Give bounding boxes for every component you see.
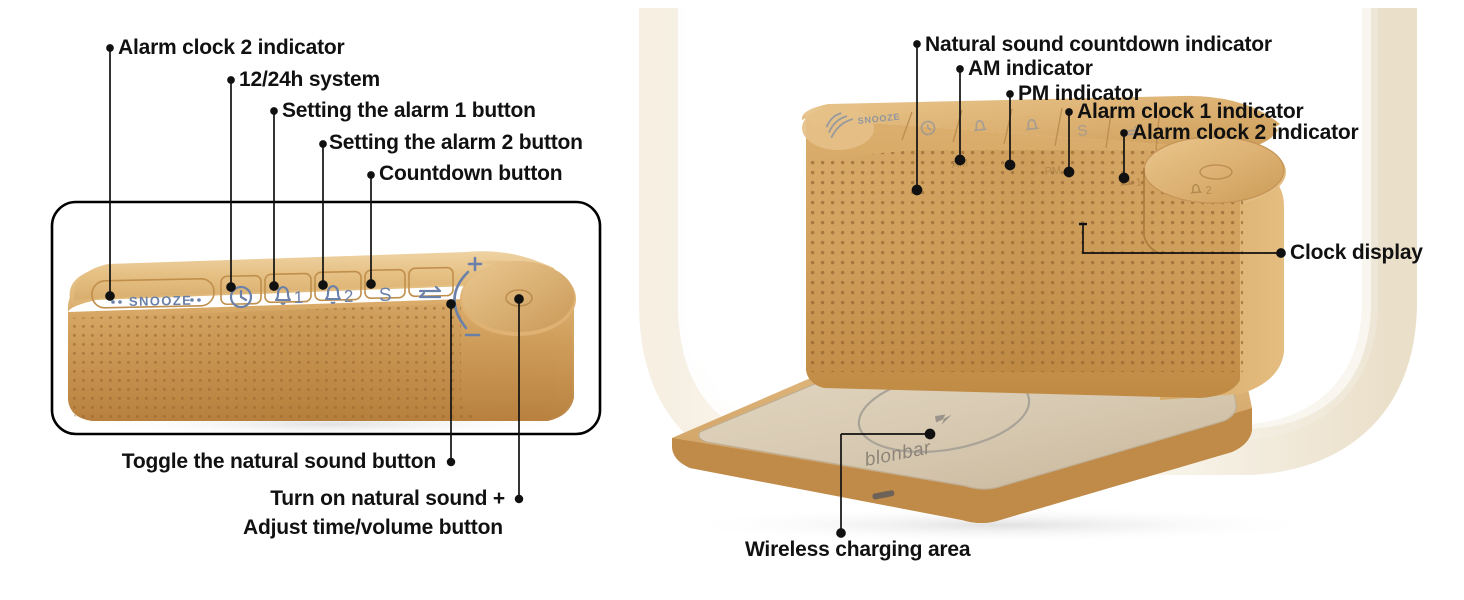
brand-logo-text: blonbar [863, 437, 933, 470]
svg-text:1: 1 [294, 288, 304, 307]
leader-setting-alarm-2-button [319, 141, 327, 289]
label-am-indicator: AM indicator [968, 57, 1093, 81]
leader-alarm-clock-2-indicator-left [106, 45, 114, 300]
svg-text:S: S [1077, 122, 1089, 140]
leader-12-24h-system [227, 77, 235, 291]
label-alarm-clock-2-indicator-right: Alarm clock 2 indicator [1132, 121, 1358, 145]
leader-natural-sound-countdown-indicator [913, 41, 922, 195]
label-adjust-time-volume-button: Adjust time/volume button [243, 516, 503, 540]
wireless-charge-ring [853, 361, 1035, 463]
svg-text:2: 2 [344, 287, 354, 306]
svg-text:AM: AM [951, 158, 968, 171]
leader-wireless-charging-area [837, 430, 935, 538]
wooden-base-tray: blonbar [672, 342, 1252, 523]
leader-clock-display [1079, 224, 1285, 257]
leader-alarm-clock-1-indicator-right [1065, 109, 1074, 177]
label-natural-sound-countdown-indicator: Natural sound countdown indicator [925, 33, 1272, 57]
detail-view-outline [52, 202, 600, 434]
svg-text:SNOOZE: SNOOZE [857, 112, 901, 126]
leader-countdown-button [367, 172, 375, 288]
leader-toggle-natural-sound-button [447, 300, 455, 465]
leader-am-indicator [956, 66, 965, 165]
label-toggle-natural-sound-button: Toggle the natural sound button [106, 450, 436, 474]
svg-text:PM: PM [1044, 165, 1061, 178]
svg-text:S: S [379, 285, 392, 306]
label-setting-alarm-2-button: Setting the alarm 2 button [329, 131, 583, 155]
lightning-bolt-icon [935, 414, 953, 426]
label-turn-on-natural-sound-line1: Turn on natural sound + [200, 487, 505, 511]
leader-alarm-clock-2-indicator-right [1120, 130, 1129, 183]
knob-plus-minus-arc [454, 272, 468, 328]
label-wireless-charging-area: Wireless charging area [745, 538, 970, 562]
label-countdown-button: Countdown button [379, 162, 562, 186]
leader-pm-indicator [1006, 91, 1015, 170]
label-setting-alarm-1-button: Setting the alarm 1 button [282, 99, 536, 123]
label-alarm-clock-1-indicator-right: Alarm clock 1 indicator [1077, 100, 1303, 124]
diagram-canvas: SNOOZE 1 2 S [0, 0, 1464, 600]
snooze-button-shape [92, 279, 214, 309]
leader-setting-alarm-1-button [270, 108, 278, 290]
svg-text:SNOOZE: SNOOZE [129, 293, 193, 309]
left-device-render: SNOOZE 1 2 S [68, 251, 580, 438]
usb-port [872, 490, 895, 500]
label-12-24h-system: 12/24h system [239, 68, 380, 92]
key-glyphs [111, 286, 440, 307]
svg-text:2: 2 [1205, 185, 1212, 197]
label-clock-display: Clock display [1290, 241, 1423, 265]
svg-text:1: 1 [1135, 177, 1142, 189]
leader-turn-on-natural-sound [515, 295, 523, 502]
label-alarm-clock-2-indicator-left: Alarm clock 2 indicator [118, 36, 344, 60]
